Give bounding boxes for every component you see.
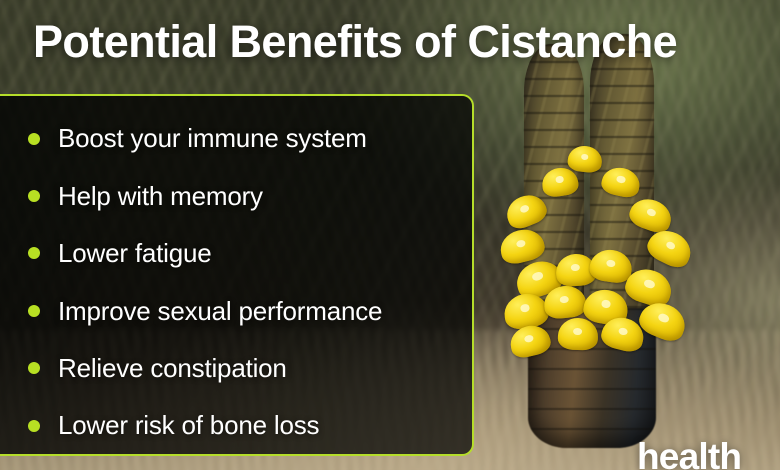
page-title: Potential Benefits of Cistanche bbox=[33, 16, 677, 68]
benefit-label: Improve sexual performance bbox=[58, 297, 382, 326]
list-item: Help with memory bbox=[0, 167, 470, 224]
bullet-dot-icon bbox=[28, 133, 40, 145]
benefit-label: Relieve constipation bbox=[58, 354, 287, 383]
list-item: Lower fatigue bbox=[0, 225, 470, 282]
benefit-label: Lower fatigue bbox=[58, 239, 212, 268]
benefit-label: Boost your immune system bbox=[58, 124, 367, 153]
bullet-dot-icon bbox=[28, 362, 40, 374]
benefit-label: Help with memory bbox=[58, 182, 263, 211]
bullet-dot-icon bbox=[28, 420, 40, 432]
list-item: Lower risk of bone loss bbox=[0, 397, 470, 454]
list-item: Boost your immune system bbox=[0, 110, 470, 167]
benefits-list: Boost your immune system Help with memor… bbox=[0, 110, 470, 454]
bullet-dot-icon bbox=[28, 247, 40, 259]
list-item: Relieve constipation bbox=[0, 340, 470, 397]
list-item: Improve sexual performance bbox=[0, 282, 470, 339]
infographic-canvas: Potential Benefits of Cistanche Boost yo… bbox=[0, 0, 780, 470]
bullet-dot-icon bbox=[28, 190, 40, 202]
cistanche-plant-illustration bbox=[498, 18, 718, 448]
brand-logo: health bbox=[637, 436, 741, 470]
bullet-dot-icon bbox=[28, 305, 40, 317]
benefit-label: Lower risk of bone loss bbox=[58, 411, 319, 440]
